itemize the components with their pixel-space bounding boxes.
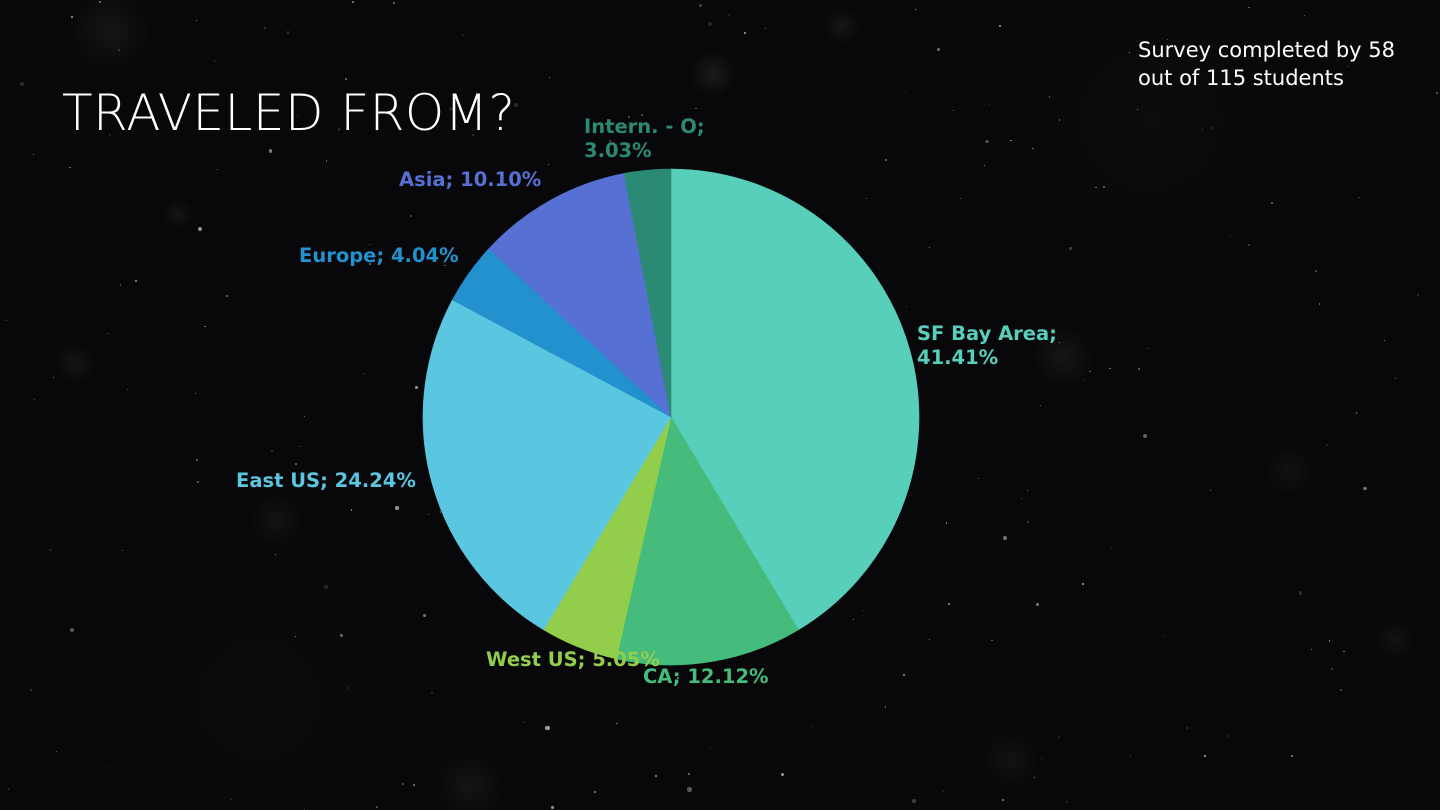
pie-slice-label: SF Bay Area; 41.41% [917,322,1057,371]
pie-slice-label: West US; 5.05% [486,648,660,672]
pie-slice-label: CA; 12.12% [643,665,769,689]
pie-slice-label: Europe; 4.04% [299,244,459,268]
pie-slice-label: Intern. - O; 3.03% [584,115,705,164]
pie-slice-label: Asia; 10.10% [399,168,541,192]
pie-slice-label: East US; 24.24% [236,469,416,493]
slide-canvas: TRAVELED FROM? Survey completed by 58 ou… [0,0,1440,810]
